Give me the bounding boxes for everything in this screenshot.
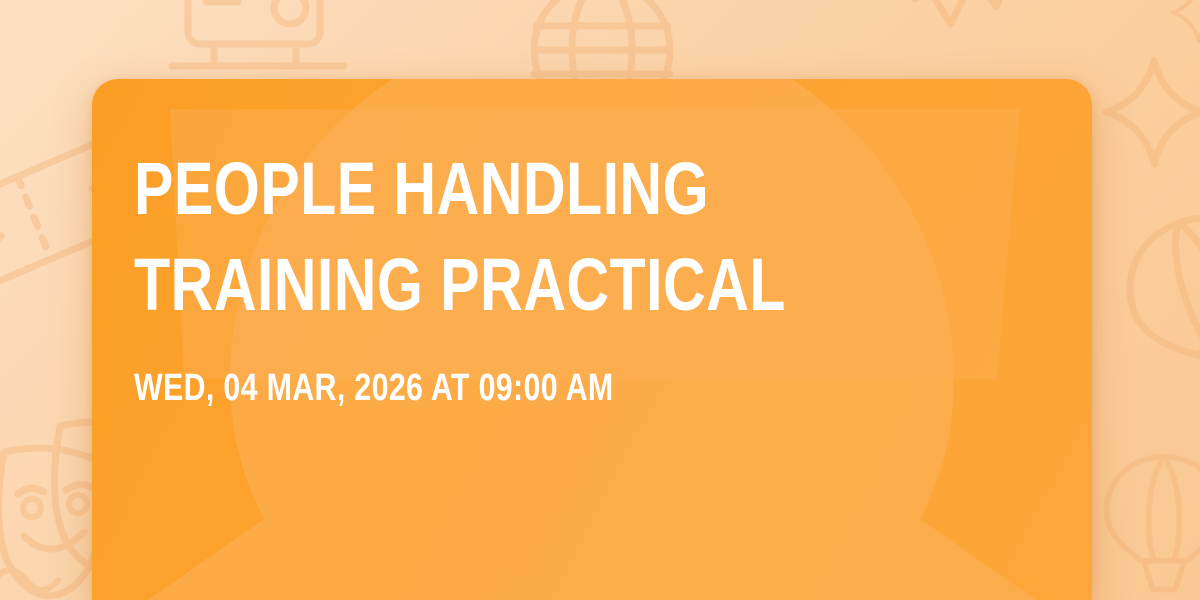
sparkle-icon <box>1106 60 1200 164</box>
sparkle-icon <box>1172 0 1200 41</box>
microphone-icon <box>0 62 7 185</box>
confetti-icon <box>0 570 58 590</box>
event-banner: People Handling Training Practical Wed, … <box>0 0 1200 600</box>
banner-flag-icon <box>906 0 1107 30</box>
hot-air-balloon-icon <box>1106 457 1200 590</box>
page-title: People Handling Training Practical <box>134 141 852 333</box>
event-datetime: Wed, 04 Mar, 2026 at 09:00 AM <box>134 365 852 411</box>
hot-air-balloon-icon <box>1111 198 1200 428</box>
event-text-block: People Handling Training Practical Wed, … <box>134 141 1032 411</box>
projector-icon <box>172 0 344 66</box>
event-card: People Handling Training Practical Wed, … <box>92 79 1092 600</box>
